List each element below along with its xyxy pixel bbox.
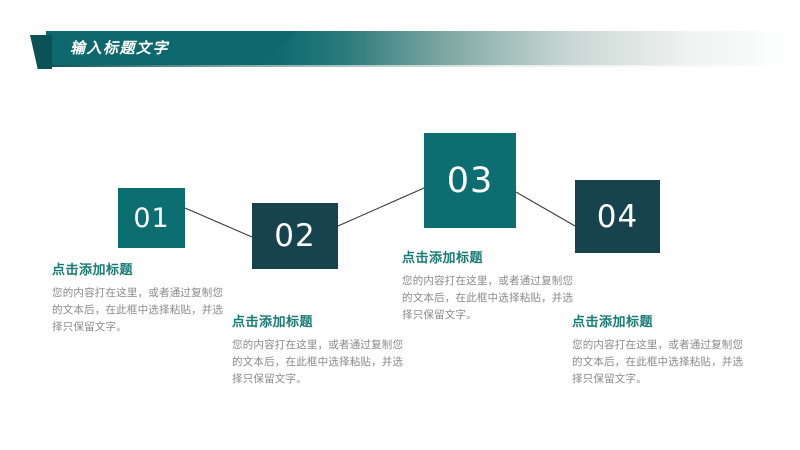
banner-underline [46, 65, 792, 67]
step-box-02[interactable]: 02 [252, 203, 338, 269]
step-body-03[interactable]: 您的内容打在这里，或者通过复制您的文本后，在此框中选择粘贴，并选择只保留文字。 [402, 273, 582, 324]
slide-canvas: 输入标题文字 01 02 03 04 点击添加标题 您的内容打在这里，或者通过复… [0, 0, 800, 450]
step-text-02: 点击添加标题 您的内容打在这里，或者通过复制您的文本后，在此框中选择粘贴，并选择… [232, 311, 412, 388]
connector-02-03 [338, 188, 424, 226]
step-box-01[interactable]: 01 [118, 188, 185, 248]
connector-01-02 [185, 208, 252, 237]
step-heading-04[interactable]: 点击添加标题 [572, 311, 752, 330]
step-heading-02[interactable]: 点击添加标题 [232, 311, 412, 330]
banner-left-tab [30, 35, 52, 69]
step-body-02[interactable]: 您的内容打在这里，或者通过复制您的文本后，在此框中选择粘贴，并选择只保留文字。 [232, 337, 412, 388]
step-body-04[interactable]: 您的内容打在这里，或者通过复制您的文本后，在此框中选择粘贴，并选择只保留文字。 [572, 337, 752, 388]
connector-03-04 [516, 192, 575, 226]
step-text-03: 点击添加标题 您的内容打在这里，或者通过复制您的文本后，在此框中选择粘贴，并选择… [402, 247, 582, 324]
step-text-04: 点击添加标题 您的内容打在这里，或者通过复制您的文本后，在此框中选择粘贴，并选择… [572, 311, 752, 388]
slide-title: 输入标题文字 [70, 37, 169, 59]
step-text-01: 点击添加标题 您的内容打在这里，或者通过复制您的文本后，在此框中选择粘贴，并选择… [52, 259, 232, 336]
step-heading-01[interactable]: 点击添加标题 [52, 259, 232, 278]
step-body-01[interactable]: 您的内容打在这里，或者通过复制您的文本后，在此框中选择粘贴，并选择只保留文字。 [52, 285, 232, 336]
header-banner: 输入标题文字 [30, 31, 792, 65]
step-box-04[interactable]: 04 [575, 180, 660, 253]
step-box-03[interactable]: 03 [424, 133, 516, 228]
step-heading-03[interactable]: 点击添加标题 [402, 247, 582, 266]
